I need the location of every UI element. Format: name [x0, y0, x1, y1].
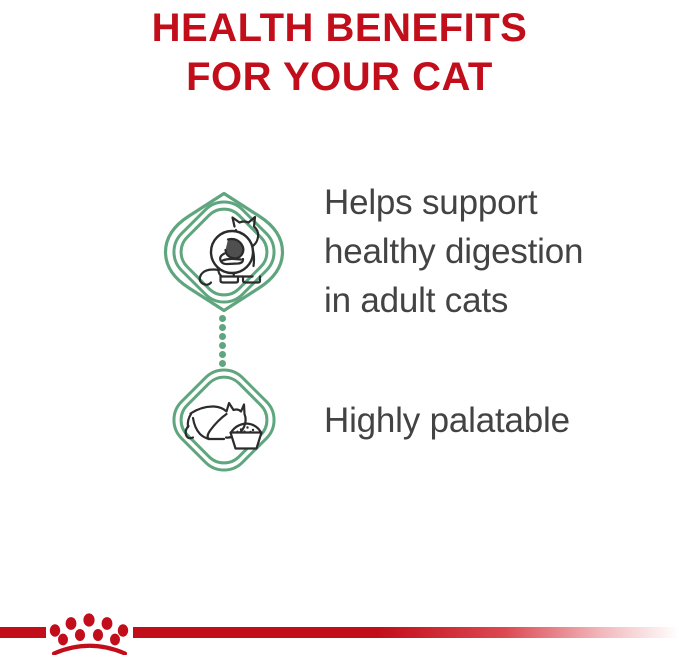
connector-dot	[219, 324, 226, 331]
benefit-label: Highly palatable	[324, 396, 570, 445]
footer-bar-right	[133, 627, 679, 638]
benefit-item: Helps support healthy digestion in adult…	[0, 178, 679, 325]
page-title: HEALTH BENEFITS FOR YOUR CAT	[0, 4, 679, 102]
royal-canin-crown-logo	[46, 610, 133, 655]
connector-dot	[219, 360, 226, 367]
page-title-line-1: HEALTH BENEFITS	[0, 4, 679, 53]
connector-dot	[219, 342, 226, 349]
connector-dot	[219, 315, 226, 322]
benefit-item: Highly palatable	[0, 358, 679, 482]
connector-dot	[219, 333, 226, 340]
page-title-line-2: FOR YOUR CAT	[0, 53, 679, 102]
cat-digestion-icon	[162, 190, 286, 314]
dotted-connector	[219, 315, 229, 367]
connector-dot	[219, 351, 226, 358]
footer-brand-bar	[0, 600, 679, 666]
cat-eating-bowl-icon	[162, 358, 286, 482]
footer-bar-left	[0, 627, 46, 638]
benefit-label: Helps support healthy digestion in adult…	[324, 178, 583, 325]
